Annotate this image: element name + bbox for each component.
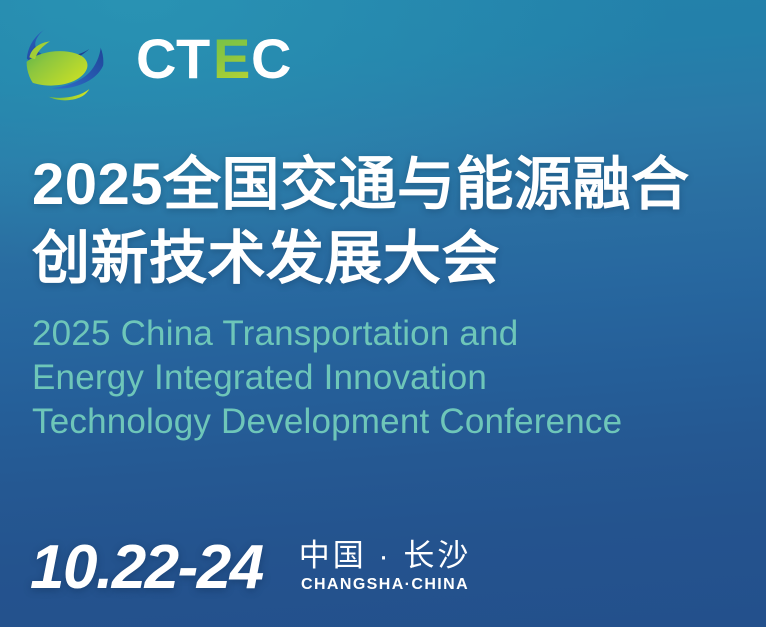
ctec-wordmark: C T E C <box>136 33 336 91</box>
headline-chinese-line2: 创新技术发展大会 <box>32 222 742 296</box>
event-location-chinese: 中国 · 长沙 <box>299 538 472 574</box>
event-date: 10.22-24 <box>30 537 263 599</box>
ctec-globe-logo-icon <box>18 18 112 106</box>
subtitle-english-line1: 2025 China Transportation and <box>32 312 732 356</box>
event-location: 中国 · 长沙 CHANGSHA·CHINA <box>299 538 472 599</box>
svg-text:E: E <box>213 33 251 90</box>
event-location-english: CHANGSHA·CHINA <box>299 574 472 596</box>
svg-text:C: C <box>136 33 177 90</box>
subtitle-english-line3: Technology Development Conference <box>32 400 732 444</box>
subtitle-english-line2: Energy Integrated Innovation <box>32 356 732 400</box>
conference-poster: C T E C 2025全国交通与能源融合 创新技术发展大会 2025 Chin… <box>0 0 766 627</box>
event-details: 10.22-24 中国 · 长沙 CHANGSHA·CHINA <box>30 537 471 599</box>
brand-lockup: C T E C <box>18 18 336 106</box>
svg-text:T: T <box>176 33 211 90</box>
subtitle-english: 2025 China Transportation and Energy Int… <box>32 312 732 444</box>
svg-text:C: C <box>251 33 292 90</box>
headline-chinese: 2025全国交通与能源融合 创新技术发展大会 <box>32 148 742 296</box>
headline-chinese-line1: 2025全国交通与能源融合 <box>32 148 742 222</box>
